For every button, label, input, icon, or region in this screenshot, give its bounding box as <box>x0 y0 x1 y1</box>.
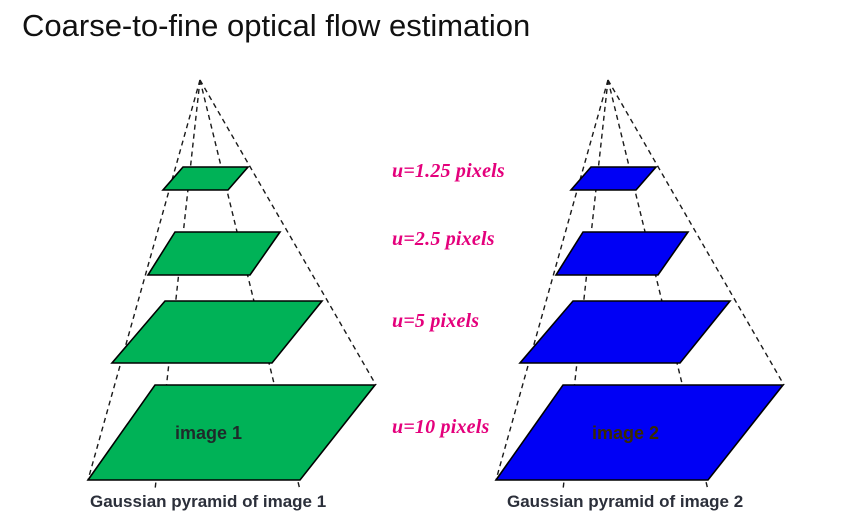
pyramid-right-bottom-label: image 2 <box>592 423 659 444</box>
page-title: Coarse-to-fine optical flow estimation <box>22 8 530 44</box>
pyramid-right-level-1 <box>571 167 656 190</box>
pyramid-left-caption: Gaussian pyramid of image 1 <box>90 492 326 512</box>
pyramid-left-level-3 <box>112 301 322 363</box>
flow-label-level-1: u=1.25 pixels <box>392 160 505 183</box>
pyramid-right-caption: Gaussian pyramid of image 2 <box>507 492 743 512</box>
pyramid-right-level-2 <box>556 232 688 275</box>
flow-label-level-3: u=5 pixels <box>392 310 479 333</box>
slide-canvas: Coarse-to-fine optical flow estimation i… <box>0 0 855 532</box>
pyramid-left-level-2 <box>148 232 280 275</box>
pyramid-right-level-3 <box>520 301 730 363</box>
pyramid-left-bottom-label: image 1 <box>175 423 242 444</box>
flow-label-level-4: u=10 pixels <box>392 416 490 439</box>
pyramid-left-level-1 <box>163 167 248 190</box>
flow-label-level-2: u=2.5 pixels <box>392 228 495 251</box>
